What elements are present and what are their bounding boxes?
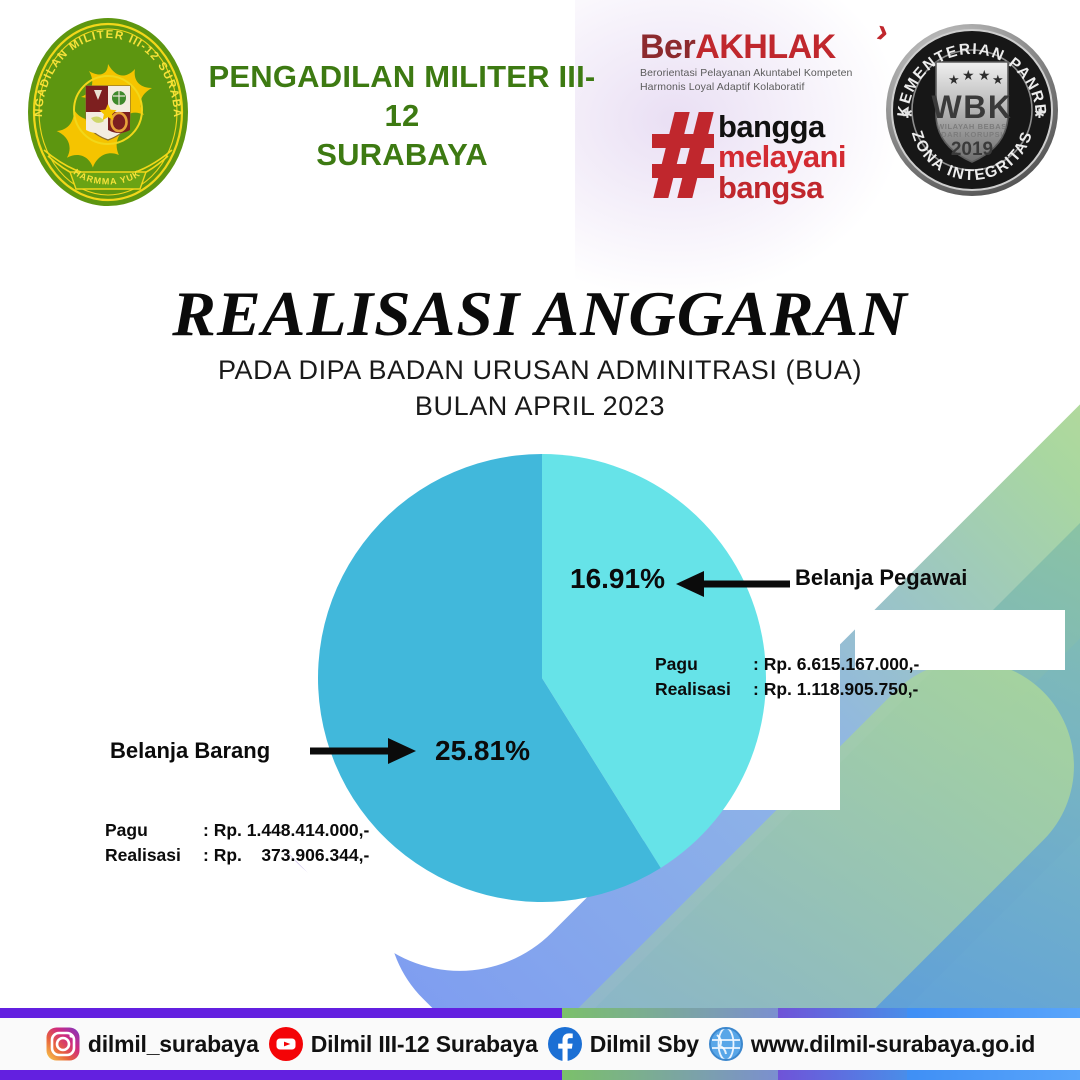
figure-key-pagu: Pagu (655, 652, 753, 677)
footer-label-youtube: Dilmil III-12 Surabaya (311, 1031, 538, 1058)
footer-strip-bottom (0, 1070, 1080, 1080)
page-subtitle-1: PADA DIPA BADAN URUSAN ADMINITRASI (BUA) (0, 355, 1080, 386)
figure-row-pagu: Pagu : Rp. 6.615.167.000,- (655, 652, 919, 677)
instagram-icon (45, 1026, 81, 1062)
figures-belanja-pegawai: Pagu : Rp. 6.615.167.000,- Realisasi : R… (655, 652, 919, 703)
footer-label-facebook: Dilmil Sby (590, 1031, 699, 1058)
wbk-zona-integritas-badge: KEMENTERIAN PANRB ZONA INTEGRITAS ✱ ✱ ★ … (884, 22, 1060, 198)
footer-label-instagram: dilmil_surabaya (88, 1031, 259, 1058)
figures-belanja-barang: Pagu : Rp. 1.448.414.000,- Realisasi : R… (105, 818, 369, 869)
youtube-icon (268, 1026, 304, 1062)
svg-text:DARI KORUPSI: DARI KORUPSI (941, 130, 1003, 139)
svg-text:★: ★ (992, 72, 1004, 87)
berakhlak-wordmark: BerAKHLAK› (640, 30, 872, 64)
bangga-wordmark: bangga melayani bangsa (718, 112, 846, 203)
berakhlak-suffix: AKHLAK (695, 28, 836, 66)
footer-item-website[interactable]: www.dilmil-surabaya.go.id (708, 1026, 1035, 1062)
organization-title-line2: SURABAYA (196, 136, 608, 175)
court-seal-logo: PENGADILAN MILITER III-12 SURABAYA (22, 14, 194, 210)
facebook-icon (547, 1026, 583, 1062)
organization-title-line1: PENGADILAN MILITER III-12 (196, 58, 608, 136)
slice-value-belanja-pegawai: 16.91% (570, 563, 665, 595)
bangga-word-3: bangsa (718, 173, 846, 203)
wbk-center-label: WBK (932, 89, 1013, 125)
globe-icon (708, 1026, 744, 1062)
slice-label-belanja-barang: Belanja Barang (110, 738, 270, 764)
page-subtitle-2: BULAN APRIL 2023 (0, 391, 1080, 422)
footer-contacts: dilmil_surabaya Dilmil III-12 Surabaya D… (0, 1018, 1080, 1070)
berakhlak-tagline-line1: Berorientasi Pelayanan Akuntabel Kompete… (640, 67, 872, 81)
figure-value-pagu: : Rp. 1.448.414.000,- (203, 818, 369, 843)
footer-item-facebook[interactable]: Dilmil Sby (547, 1026, 699, 1062)
svg-text:2019: 2019 (951, 139, 993, 160)
page-title: REALISASI ANGGARAN (0, 278, 1080, 351)
slice-value-belanja-barang: 25.81% (435, 735, 530, 767)
hash-icon (652, 112, 714, 198)
slice-label-belanja-pegawai: Belanja Pegawai (795, 565, 967, 591)
poster-canvas: PENGADILAN MILITER III-12 SURABAYA (0, 0, 1080, 1080)
figure-row-pagu: Pagu : Rp. 1.448.414.000,- (105, 818, 369, 843)
organization-title: PENGADILAN MILITER III-12 SURABAYA (196, 58, 608, 174)
figure-key-realisasi: Realisasi (655, 677, 753, 702)
footer-item-instagram[interactable]: dilmil_surabaya (45, 1026, 259, 1062)
figure-row-realisasi: Realisasi : Rp. 1.118.905.750,- (655, 677, 919, 702)
svg-text:★: ★ (948, 72, 960, 87)
footer-strip-top (0, 1008, 1080, 1018)
footer-label-website: www.dilmil-surabaya.go.id (751, 1031, 1035, 1058)
berakhlak-logo: BerAKHLAK› Berorientasi Pelayanan Akunta… (640, 30, 872, 95)
figure-value-realisasi: : Rp. 1.118.905.750,- (753, 677, 919, 702)
figure-value-realisasi: : Rp. 373.906.344,- (203, 843, 369, 868)
berakhlak-tagline: Berorientasi Pelayanan Akuntabel Kompete… (640, 67, 872, 95)
footer-item-youtube[interactable]: Dilmil III-12 Surabaya (268, 1026, 538, 1062)
figure-key-realisasi: Realisasi (105, 843, 203, 868)
bangga-word-2: melayani (718, 142, 846, 172)
svg-text:★: ★ (962, 67, 975, 83)
svg-text:★: ★ (978, 67, 991, 83)
berakhlak-prefix: Ber (640, 28, 695, 66)
svg-text:✱: ✱ (1034, 106, 1045, 121)
figure-value-pagu: : Rp. 6.615.167.000,- (753, 652, 919, 677)
arrow-right-icon (310, 738, 420, 764)
berakhlak-tagline-line2: Harmonis Loyal Adaptif Kolaboratif (640, 81, 872, 95)
footer-bar: dilmil_surabaya Dilmil III-12 Surabaya D… (0, 1008, 1080, 1080)
bangga-word-1: bangga (718, 112, 846, 142)
bangga-melayani-bangsa-logo: bangga melayani bangsa (652, 112, 846, 203)
figure-key-pagu: Pagu (105, 818, 203, 843)
arrow-left-icon (672, 571, 792, 597)
figure-row-realisasi: Realisasi : Rp. 373.906.344,- (105, 843, 369, 868)
svg-text:✱: ✱ (902, 106, 913, 121)
